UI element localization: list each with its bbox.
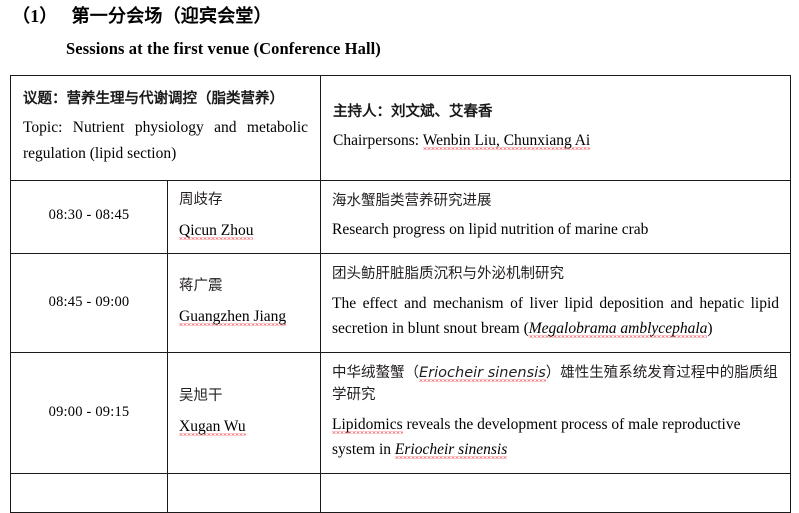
page-title: （1）第一分会场（迎宾会堂）	[12, 2, 272, 28]
talk-title-zh-part1: 中华绒螯蟹（	[332, 365, 419, 381]
talk-title-zh: 中华绒螯蟹（Eriocheir sinensis）雄性生殖系统发育过程中的脂质组…	[332, 362, 779, 407]
schedule-table: 议题：营养生理与代谢调控（脂类营养） Topic: Nutrient physi…	[10, 75, 791, 513]
chairs-en-label: Chairpersons:	[333, 132, 423, 149]
speaker-zh: 吴旭干	[179, 386, 309, 408]
chairs-en: Chairpersons: Wenbin Liu, Chunxiang Ai	[333, 128, 778, 153]
speaker-cell: 吴旭干 Xugan Wu	[168, 352, 321, 473]
speaker-cell: 蒋广震 Guangzhen Jiang	[168, 254, 321, 353]
section-subtitle-en: Sessions at the first venue (Conference …	[66, 39, 381, 59]
chairs-zh-value: 刘文斌、艾春香	[391, 104, 493, 120]
table-row: 08:30 - 08:45 周歧存 Qicun Zhou 海水蟹脂类营养研究进展…	[11, 180, 791, 254]
time-cell	[11, 474, 168, 513]
topic-zh: 议题：营养生理与代谢调控（脂类营养）	[23, 88, 308, 110]
talk-title-zh: 海水蟹脂类营养研究进展	[332, 190, 779, 212]
speaker-en: Qicun Zhou	[179, 222, 253, 240]
speaker-cell	[168, 474, 321, 513]
topic-zh-value: 营养生理与代谢调控（脂类营养）	[67, 91, 285, 107]
chairs-en-value: Wenbin Liu, Chunxiang Ai	[423, 132, 591, 150]
speaker-zh: 蒋广震	[179, 276, 309, 298]
section-number: （1）	[12, 6, 58, 26]
talk-title-en: The effect and mechanism of liver lipid …	[332, 291, 779, 341]
table-row: 08:45 - 09:00 蒋广震 Guangzhen Jiang 团头鲂肝脏脂…	[11, 254, 791, 353]
species-name: Megalobrama amblycephala	[529, 320, 708, 338]
topic-cell: 议题：营养生理与代谢调控（脂类营养） Topic: Nutrient physi…	[11, 76, 321, 181]
species-name: Eriocheir sinensis	[395, 441, 507, 459]
time-cell: 09:00 - 09:15	[11, 352, 168, 473]
section-title-zh: 第一分会场（迎宾会堂）	[72, 6, 272, 26]
talk-cell: 中华绒螯蟹（Eriocheir sinensis）雄性生殖系统发育过程中的脂质组…	[321, 352, 791, 473]
talk-title-en: Lipidomics reveals the development proce…	[332, 412, 779, 462]
talk-cell: 海水蟹脂类营养研究进展 Research progress on lipid n…	[321, 180, 791, 254]
talk-title-en: Research progress on lipid nutrition of …	[332, 217, 779, 242]
chairs-zh-label: 主持人：	[333, 104, 391, 120]
time-value: 09:00 - 09:15	[11, 395, 167, 432]
talk-title-zh: 团头鲂肝脏脂质沉积与外泌机制研究	[332, 263, 779, 285]
time-value: 08:30 - 08:45	[11, 198, 167, 235]
talk-title-en-part2: )	[707, 320, 712, 337]
speaker-en: Xugan Wu	[179, 418, 246, 436]
time-cell: 08:45 - 09:00	[11, 254, 168, 353]
chairs-cell: 主持人：刘文斌、艾春香 Chairpersons: Wenbin Liu, Ch…	[321, 76, 791, 181]
species-name: Eriocheir sinensis	[419, 365, 546, 382]
topic-zh-label: 议题：	[23, 91, 67, 107]
document-page: （1）第一分会场（迎宾会堂） Sessions at the first ven…	[0, 0, 799, 502]
speaker-en: Guangzhen Jiang	[179, 308, 286, 326]
talk-cell: 团头鲂肝脏脂质沉积与外泌机制研究 The effect and mechanis…	[321, 254, 791, 353]
time-cell: 08:30 - 08:45	[11, 180, 168, 254]
time-value: 08:45 - 09:00	[11, 285, 167, 322]
speaker-cell: 周歧存 Qicun Zhou	[168, 180, 321, 254]
chairs-zh: 主持人：刘文斌、艾春香	[333, 101, 778, 123]
talk-cell	[321, 474, 791, 513]
topic-en: Topic: Nutrient physiology and metabolic…	[23, 115, 308, 165]
table-header-row: 议题：营养生理与代谢调控（脂类营养） Topic: Nutrient physi…	[11, 76, 791, 181]
speaker-zh: 周歧存	[179, 190, 309, 212]
talk-title-en-part1: Lipidomics	[332, 416, 403, 434]
table-row: 09:00 - 09:15 吴旭干 Xugan Wu 中华绒螯蟹（Erioche…	[11, 352, 791, 473]
table-row-partial	[11, 474, 791, 513]
